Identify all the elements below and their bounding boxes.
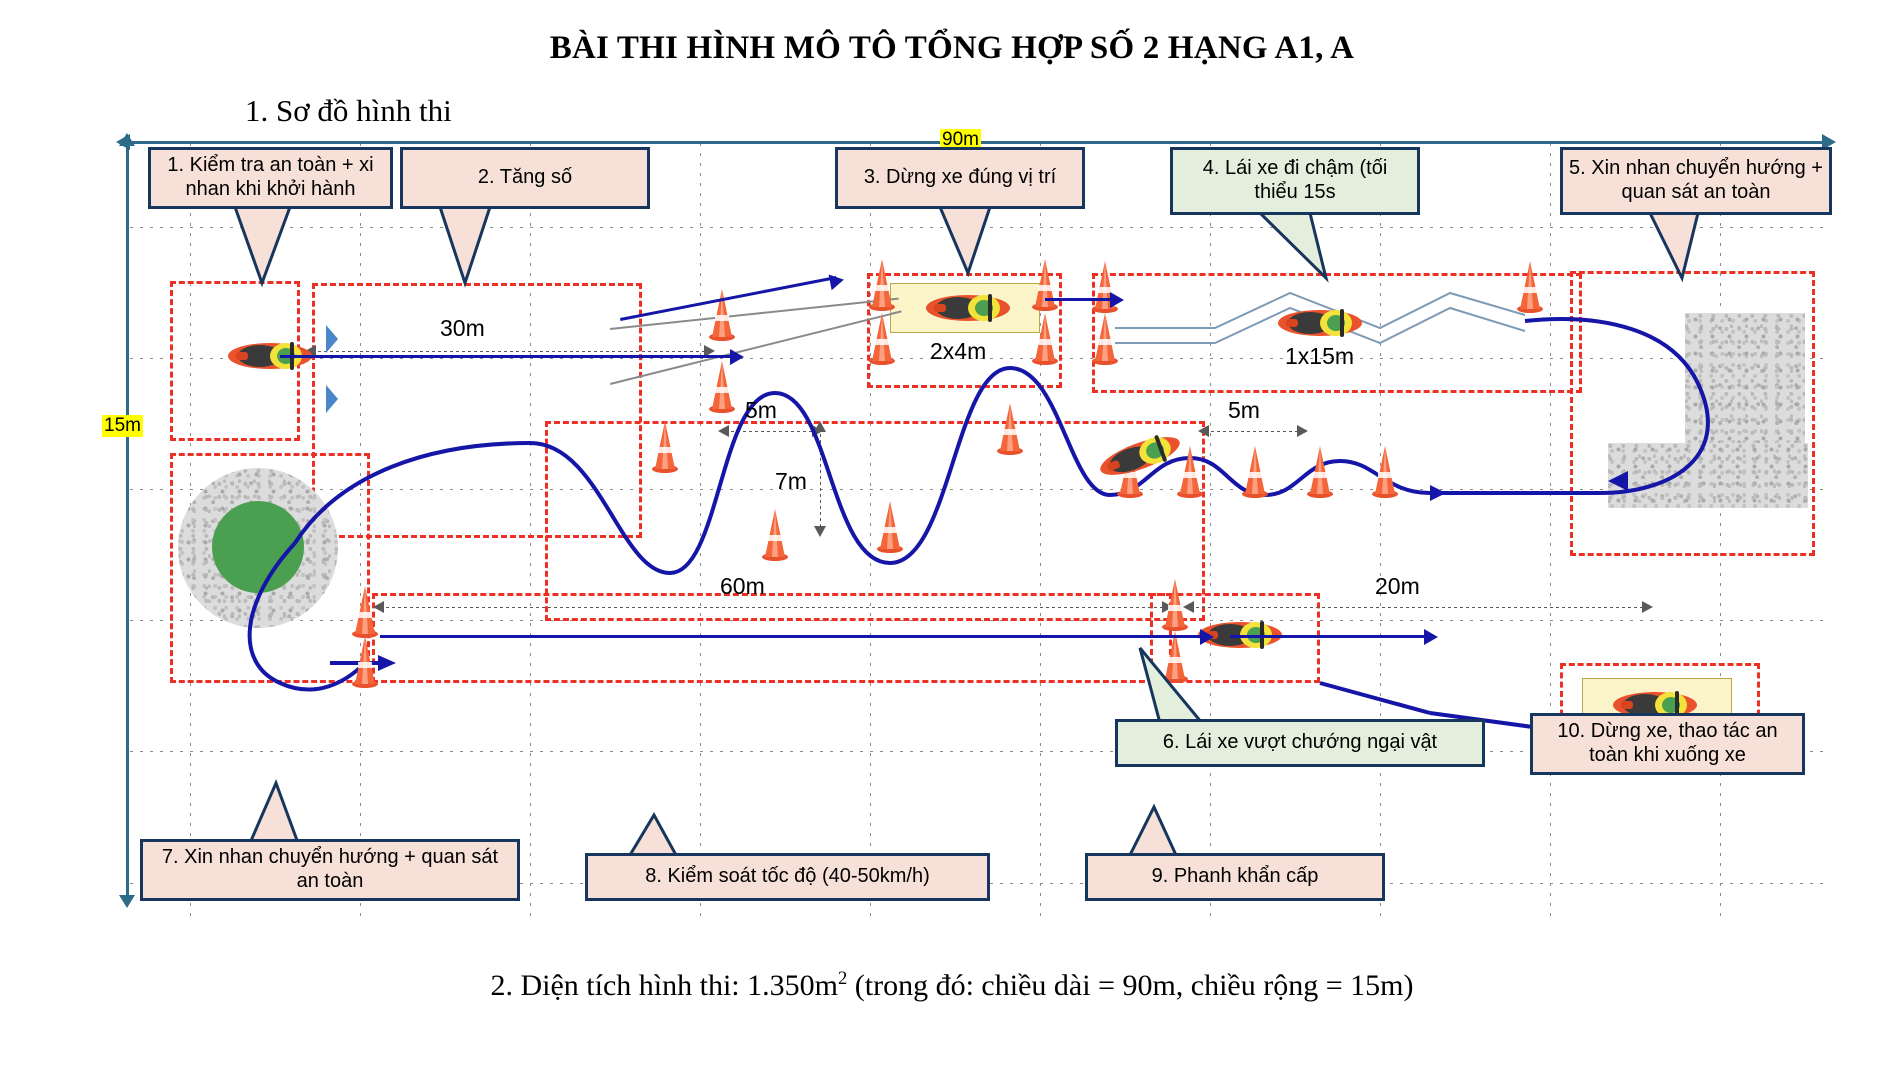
dim-5m-b-cap-right-icon xyxy=(1297,425,1308,437)
cone-icon xyxy=(1307,446,1333,498)
arrow-brake-section xyxy=(1230,635,1430,638)
guide-line-lower xyxy=(610,310,902,385)
dim-20m-cap-left-icon xyxy=(1183,601,1194,613)
cone-icon xyxy=(1242,446,1268,498)
dim-30m-line xyxy=(312,351,712,352)
dim-5m-a-line xyxy=(725,431,820,432)
arrow-speed-section-head-icon xyxy=(1200,629,1214,645)
dim-60m-cap-right-icon xyxy=(1162,601,1173,613)
arrow-speed-section xyxy=(380,635,1210,638)
callout-7[interactable]: 7. Xin nhan chuyển hướng + quan sát an t… xyxy=(140,839,520,901)
exercise-field-diagram: 90m 15m xyxy=(130,143,1830,923)
dim-7m-label: 7m xyxy=(775,468,807,495)
arrow-start-to-gear-head-icon xyxy=(730,349,744,365)
dim-5m-b-cap-left-icon xyxy=(1198,425,1209,437)
callout-10[interactable]: 10. Dừng xe, thao tác an toàn khi xuống … xyxy=(1530,713,1805,775)
gravel-patch-lower xyxy=(1608,443,1808,508)
callout-1[interactable]: 1. Kiểm tra an toàn + xi nhan khi khởi h… xyxy=(148,147,393,209)
section-heading: 1. Sơ đồ hình thi xyxy=(245,93,452,129)
arrow-pad-to-slow-head-icon xyxy=(1110,292,1124,308)
arrow-pad-to-slow xyxy=(1045,298,1115,301)
zone-start xyxy=(170,281,300,441)
dim-60m-label: 60m xyxy=(720,573,765,600)
dim-5m-b-line xyxy=(1205,431,1305,432)
cone-icon xyxy=(1372,446,1398,498)
callout-3[interactable]: 3. Dừng xe đúng vị trí xyxy=(835,147,1085,209)
obstacle-green-disc xyxy=(212,501,304,593)
field-width-label: 15m xyxy=(102,415,143,437)
page-title: BÀI THI HÌNH MÔ TÔ TỔNG HỢP SỐ 2 HẠNG A1… xyxy=(0,30,1904,67)
callout-9[interactable]: 9. Phanh khẩn cấp xyxy=(1085,853,1385,901)
footer-area-note: 2. Diện tích hình thi: 1.350m2 (trong đó… xyxy=(0,968,1904,1003)
dim-5m-a-cap-left-icon xyxy=(718,425,729,437)
field-width-ruler xyxy=(126,143,129,905)
arrow-to-stop-pad-head-icon xyxy=(829,272,846,290)
arrow-brake-section-head-icon xyxy=(1424,629,1438,645)
dim-5m-b-label: 5m xyxy=(1228,397,1260,424)
dim-7m-line xyxy=(820,428,821,533)
slide-page: BÀI THI HÌNH MÔ TÔ TỔNG HỢP SỐ 2 HẠNG A1… xyxy=(0,0,1904,1076)
dim-20m-cap-right-icon xyxy=(1642,601,1653,613)
dim-5m-a-label: 5m xyxy=(745,397,777,424)
dim-7m-cap-up-icon xyxy=(814,421,826,432)
stop-pad xyxy=(890,283,1040,333)
dim-20m-line xyxy=(1190,607,1650,608)
dim-7m-cap-down-icon xyxy=(814,526,826,537)
ruler-arrow-down-icon xyxy=(119,895,135,908)
ruler-arrow-up-icon xyxy=(119,133,135,146)
dim-60m-line xyxy=(380,607,1170,608)
callout-5[interactable]: 5. Xin nhan chuyển hướng + quan sát an t… xyxy=(1560,147,1832,215)
gravel-patch-upper xyxy=(1685,313,1805,448)
zone-slalom xyxy=(545,421,1205,621)
callout-2[interactable]: 2. Tăng số xyxy=(400,147,650,209)
callout-6[interactable]: 6. Lái xe vượt chướng ngại vật xyxy=(1115,719,1485,767)
footer-suffix: (trong đó: chiều dài = 90m, chiều rộng =… xyxy=(847,969,1413,1002)
callout-8[interactable]: 8. Kiểm soát tốc độ (40-50km/h) xyxy=(585,853,990,901)
footer-prefix: 2. Diện tích hình thi: 1.350m xyxy=(490,969,837,1002)
dim-1x15m-label: 1x15m xyxy=(1285,343,1354,370)
callout-4[interactable]: 4. Lái xe đi chậm (tối thiểu 15s xyxy=(1170,147,1420,215)
arrow-start-to-gear xyxy=(280,355,735,358)
dim-60m-cap-left-icon xyxy=(373,601,384,613)
dim-20m-label: 20m xyxy=(1375,573,1420,600)
zone-slow-ride xyxy=(1092,273,1582,393)
dim-30m-label: 30m xyxy=(440,315,485,342)
footer-superscript: 2 xyxy=(838,968,847,989)
dim-2x4m-label: 2x4m xyxy=(930,338,986,365)
arrow-to-stop-pad xyxy=(620,276,837,321)
cone-icon xyxy=(709,361,735,413)
